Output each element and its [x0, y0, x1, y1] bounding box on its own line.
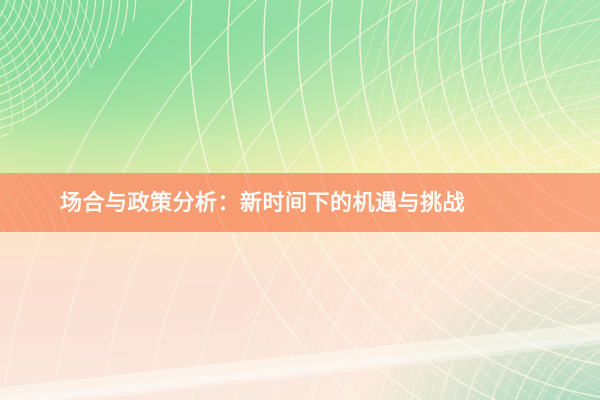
teal-glow-bottom-right — [360, 270, 600, 400]
title-band: 场合与政策分析：新时间下的机遇与挑战 — [0, 173, 600, 232]
banner-card: 场合与政策分析：新时间下的机遇与挑战 — [0, 0, 600, 400]
banner-headline: 场合与政策分析：新时间下的机遇与挑战 — [60, 192, 465, 214]
green-glow-top-left — [0, 0, 400, 180]
